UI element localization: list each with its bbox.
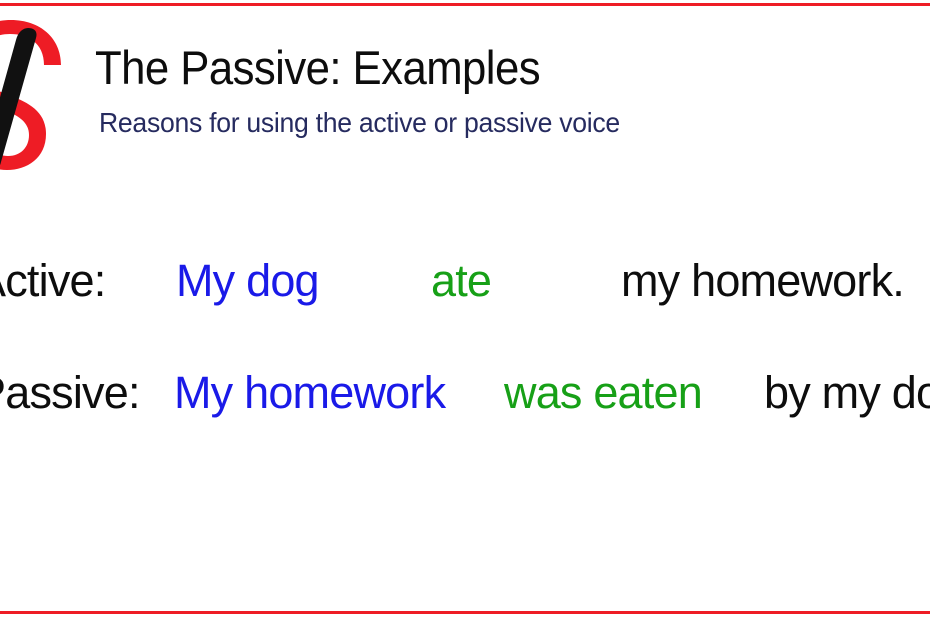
bottom-rule-divider (0, 611, 930, 614)
example-subject-passive: My homework (174, 370, 504, 415)
example-verb-passive: was eaten (504, 370, 764, 415)
example-label-passive: Passive: (0, 370, 174, 415)
page-subtitle: Reasons for using the active or passive … (99, 109, 855, 137)
slide-canvas: The Passive: Examples Reasons for using … (0, 0, 930, 620)
example-row-passive: Passive: My homework was eaten by my dog… (0, 370, 930, 415)
example-object-active: my homework. (621, 258, 904, 303)
example-row-active: Active: My dog ate my homework. (0, 258, 930, 303)
examples-list: Active: My dog ate my homework. Passive:… (0, 258, 930, 415)
page-title: The Passive: Examples (95, 44, 839, 91)
slide-header: The Passive: Examples Reasons for using … (95, 44, 895, 137)
example-subject-active: My dog (176, 258, 431, 303)
example-verb-active: ate (431, 258, 621, 303)
example-label-active: Active: (0, 258, 176, 303)
stylised-s-logo (0, 16, 76, 186)
example-object-passive: by my dog. (764, 370, 930, 415)
top-rule-divider (0, 3, 930, 6)
